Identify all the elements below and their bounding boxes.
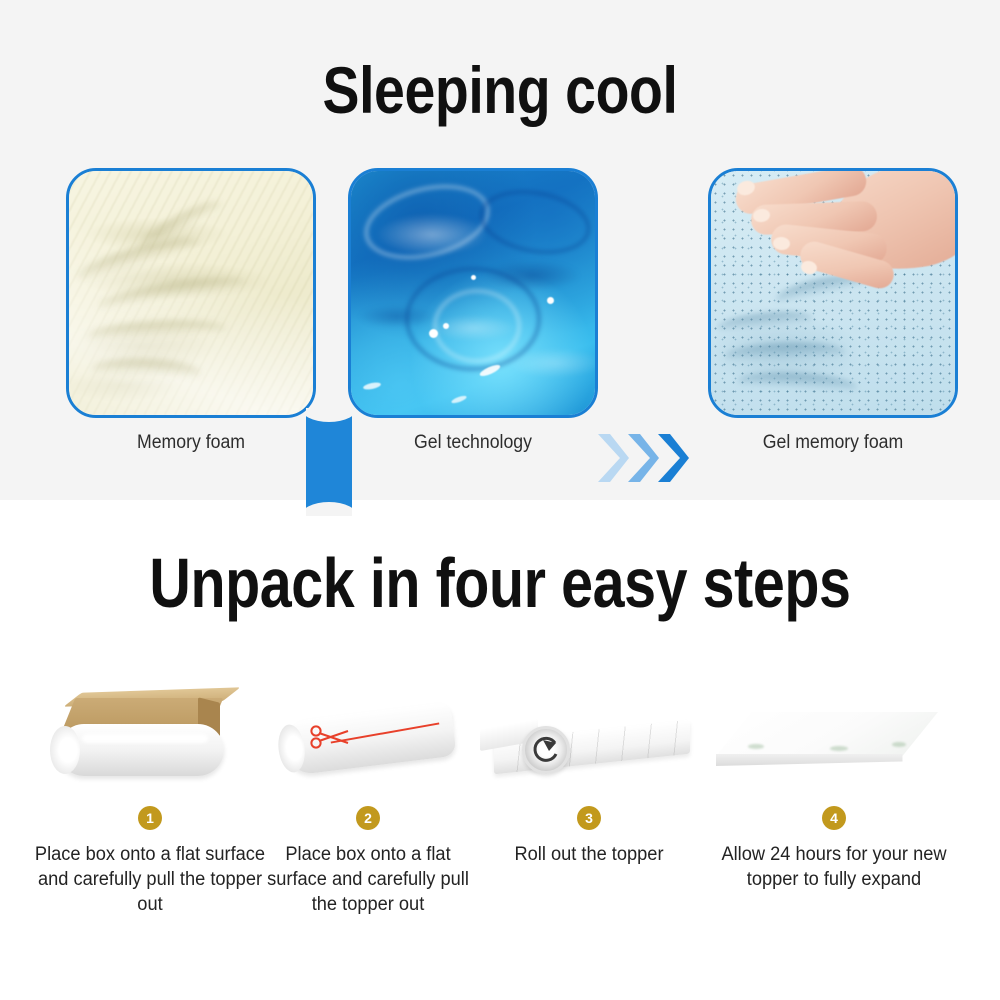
topper-side-edge bbox=[716, 754, 938, 766]
topper-speckle bbox=[748, 744, 764, 749]
triple-chevron-right-icon bbox=[596, 430, 700, 486]
sleeping-cool-section: Sleeping cool bbox=[0, 0, 1000, 500]
flat-expanded-topper-icon bbox=[700, 676, 968, 796]
scissors-icon bbox=[310, 724, 350, 750]
panel-gel-technology bbox=[348, 168, 598, 418]
panel-caption-memory-foam: Memory foam bbox=[75, 432, 308, 454]
gel-highlight bbox=[429, 329, 438, 338]
unpack-steps-row: 1 Place box onto a flat surface and care… bbox=[0, 676, 1000, 956]
step-text-2: Place box onto a flat surface and carefu… bbox=[262, 842, 473, 917]
panel-caption-gel-technology: Gel technology bbox=[357, 432, 590, 454]
step-item: 1 Place box onto a flat surface and care… bbox=[22, 676, 278, 917]
roll-highlight bbox=[82, 734, 208, 743]
gel-highlight bbox=[471, 275, 476, 280]
step-badge-2: 2 bbox=[356, 806, 380, 830]
chevron-right-icon bbox=[626, 430, 660, 486]
panel-memory-foam bbox=[66, 168, 316, 418]
panel-gel-memory-foam bbox=[708, 168, 958, 418]
box-with-wrapped-roll-icon bbox=[22, 676, 278, 796]
step-badge-1: 1 bbox=[138, 806, 162, 830]
panel-caption-gel-memory-foam: Gel memory foam bbox=[717, 432, 950, 454]
material-panels bbox=[0, 168, 1000, 418]
wrapped-roll-with-scissors-icon bbox=[258, 676, 478, 796]
unroll-arrow-icon bbox=[530, 734, 562, 766]
chevron-right-icon bbox=[656, 430, 690, 486]
step-item: 3 Roll out the topper bbox=[478, 676, 700, 867]
step-text-4: Allow 24 hours for your new topper to fu… bbox=[705, 842, 962, 892]
topper-speckle bbox=[830, 746, 848, 751]
sleeping-cool-heading: Sleeping cool bbox=[80, 52, 920, 128]
hand-icon bbox=[721, 168, 958, 301]
wrapped-roll bbox=[281, 702, 456, 776]
topper-speckle bbox=[892, 742, 906, 747]
step-badge-3: 3 bbox=[577, 806, 601, 830]
topper-top-surface bbox=[716, 712, 938, 756]
bowtie-connector-icon bbox=[306, 408, 352, 516]
step-item: 2 Place box onto a flat surface and care… bbox=[258, 676, 478, 917]
infographic-page: Sleeping cool bbox=[0, 0, 1000, 1000]
gel-highlight bbox=[443, 323, 449, 329]
unrolling-topper-icon bbox=[478, 676, 700, 796]
wrapped-roll bbox=[58, 724, 224, 776]
chevron-right-icon bbox=[596, 430, 630, 486]
step-text-1: Place box onto a flat surface and carefu… bbox=[27, 842, 273, 917]
step-item: 4 Allow 24 hours for your new topper to … bbox=[700, 676, 968, 892]
gel-highlight bbox=[547, 297, 554, 304]
step-text-3: Roll out the topper bbox=[482, 842, 695, 867]
step-badge-4: 4 bbox=[822, 806, 846, 830]
unpack-steps-heading: Unpack in four easy steps bbox=[90, 542, 910, 624]
